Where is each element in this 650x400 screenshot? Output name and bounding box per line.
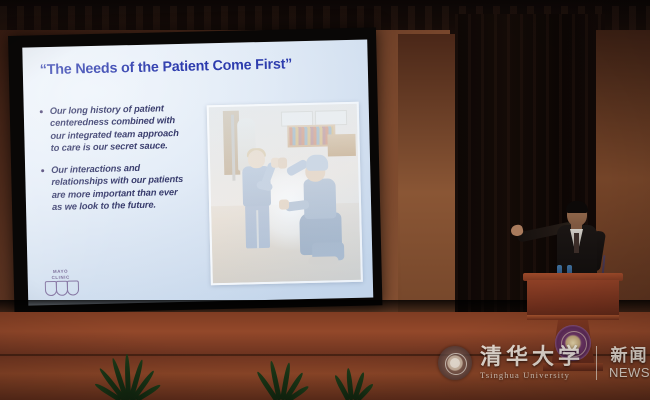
- stage-plant: [92, 352, 162, 400]
- list-item: Our long history of patient centeredness…: [36, 102, 187, 155]
- slide-photo: [207, 102, 363, 286]
- podium-front-panel: [527, 280, 619, 318]
- photo-caregiver-surgical-cap: [306, 154, 328, 171]
- news-label-en: NEWS: [609, 366, 650, 379]
- news-label-cn: 新闻: [609, 347, 650, 364]
- stage-plant: [252, 358, 322, 400]
- presentation-slide: “The Needs of the Patient Come First” Ou…: [22, 40, 373, 306]
- university-name-en: Tsinghua University: [480, 371, 584, 380]
- watermark-divider: [596, 346, 597, 380]
- mayo-three-shields-icon: [44, 280, 78, 295]
- shield-icon: [67, 280, 79, 295]
- list-item: Our interactions and relationships with …: [37, 161, 188, 214]
- photo-caregiver-hand: [279, 199, 289, 209]
- speaker-necktie: [574, 233, 579, 253]
- slide-bullet-list: Our long history of patient centeredness…: [36, 102, 189, 224]
- slide-title: “The Needs of the Patient Come First”: [40, 56, 358, 79]
- projection-screen: “The Needs of the Patient Come First” Ou…: [8, 27, 382, 314]
- photo-cabinet: [327, 134, 356, 157]
- photo-caregiver-torso: [303, 178, 336, 219]
- mayo-logo-line2: CLINIC: [40, 274, 82, 280]
- seal-core: [450, 358, 460, 368]
- watermark-university-name: 清华大学 Tsinghua University: [480, 346, 584, 380]
- photo-caregiver-foot: [308, 256, 338, 265]
- tsinghua-seal-icon: [438, 346, 472, 380]
- photo-caregiver-raised-hand: [278, 157, 287, 168]
- broadcast-watermark: 清华大学 Tsinghua University 新闻 NEWS: [438, 346, 650, 380]
- mayo-clinic-logo: MAYO CLINIC: [40, 268, 83, 297]
- photo-child-head: [248, 150, 265, 168]
- university-name-cn: 清华大学: [480, 346, 584, 368]
- screenshot-root: “The Needs of the Patient Come First” Ou…: [0, 0, 650, 400]
- speaker-hair: [566, 201, 588, 213]
- podium-lower-edge: [527, 315, 619, 320]
- watermark-news-label: 新闻 NEWS: [609, 347, 650, 379]
- stage-plant: [330, 366, 390, 400]
